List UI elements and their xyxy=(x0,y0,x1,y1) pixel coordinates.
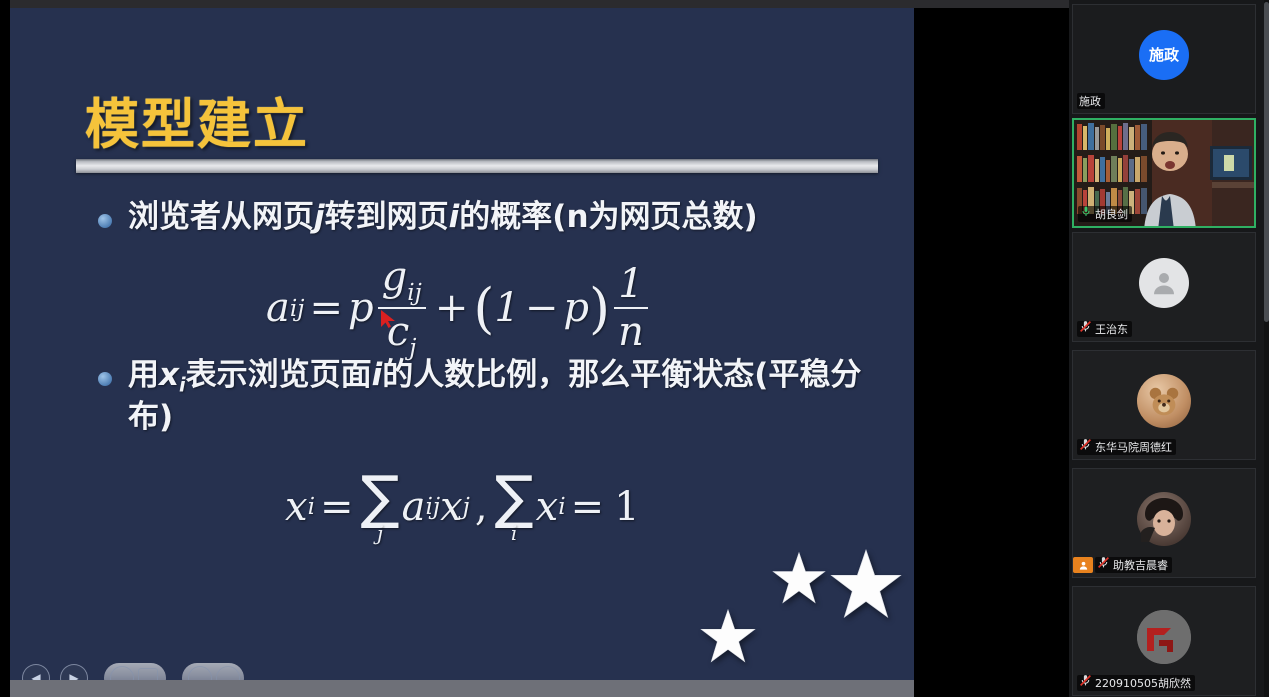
participant-name-bar: 220910505胡欣然 xyxy=(1077,675,1195,691)
participant-name: 东华马院周德红 xyxy=(1095,439,1172,455)
magnifier-icon xyxy=(188,666,212,680)
avatar-photo xyxy=(1137,374,1191,428)
bullet-dot-icon xyxy=(98,214,112,228)
bullet1-var-i: i xyxy=(449,199,460,235)
f2-xi-sub: i xyxy=(558,493,565,520)
f2-sigma2-limit: i xyxy=(511,523,517,543)
f2-one: 1 xyxy=(614,484,639,530)
slide-options-button[interactable] xyxy=(182,663,244,680)
bullet1-pre: 浏览者从网页 xyxy=(128,199,314,235)
filmstrip-scrollbar[interactable] xyxy=(1264,0,1269,697)
previous-slide-icon: ◀ xyxy=(31,672,40,680)
participant-name: 220910505胡欣然 xyxy=(1095,675,1191,691)
bullet1-var-j: j xyxy=(314,199,325,235)
meeting-screen-share-window: 模型建立 浏览者从网页j转到网页i的概率(n为网页总数) aij = p gij… xyxy=(0,0,1269,697)
mic-status-icon xyxy=(1080,205,1092,223)
f1-minus: − xyxy=(525,285,559,331)
participant-name: 王治东 xyxy=(1095,321,1128,337)
bullet-text-1: 浏览者从网页j转到网页i的概率(n为网页总数) xyxy=(128,198,758,238)
formula-transition-probability: aij = p gij cj + ( 1 − p ) 1 n xyxy=(266,256,652,360)
participant-filmstrip[interactable]: 施政施政胡良剑王治东东华马院周德红助教吉晨睿220910505胡欣然 xyxy=(1069,0,1269,697)
f1-a-sub: ij xyxy=(290,295,305,322)
mic-status-icon xyxy=(1079,438,1092,456)
star-small-icon xyxy=(700,608,756,669)
screen-share-top-bar xyxy=(0,0,1069,8)
f2-xj: x xyxy=(440,484,463,530)
mic-muted-icon xyxy=(1079,320,1092,333)
star-large-icon xyxy=(830,548,902,625)
mic-muted-icon xyxy=(1079,674,1092,687)
participant-name-bar: 胡良剑 xyxy=(1078,206,1132,222)
slide-title: 模型建立 xyxy=(85,80,309,159)
f2-sigma-j: ∑ j xyxy=(361,470,400,543)
participant-name-bar: 助教吉晨睿 xyxy=(1095,557,1172,573)
f2-equals: = xyxy=(320,484,354,530)
f2-a: a xyxy=(402,484,426,530)
mic-status-icon xyxy=(1079,320,1092,338)
bullet2-mid: 表示浏览页面 xyxy=(186,357,372,393)
participant-name-bar: 东华马院周德红 xyxy=(1077,439,1176,455)
bullet2-var-x-sub: i xyxy=(179,374,186,397)
f1-p2: p xyxy=(563,285,589,331)
bullet-item-1: 浏览者从网页j转到网页i的概率(n为网页总数) xyxy=(98,198,758,238)
avatar-default-person-icon xyxy=(1139,258,1189,308)
bullet-text-2: 用xi表示浏览页面i的人数比例，那么平衡状态(平稳分布) xyxy=(128,356,868,438)
f2-sigma1-limit: j xyxy=(377,523,383,543)
f2-x-sub: i xyxy=(308,493,315,520)
bullet2-var-x: x xyxy=(159,357,179,393)
formula-stationary-distribution: xi = ∑ j aij xj , ∑ i xi = 1 xyxy=(285,470,645,543)
mic-status-icon xyxy=(1097,556,1110,574)
host-badge xyxy=(1073,557,1093,573)
participant-name-bar: 施政 xyxy=(1077,93,1105,109)
f1-open-paren: ( xyxy=(473,277,494,340)
f1-close-paren: ) xyxy=(589,277,610,340)
f1-frac2-num: 1 xyxy=(614,263,647,305)
participant-tile[interactable]: 220910505胡欣然 xyxy=(1072,586,1256,696)
mic-muted-icon xyxy=(1097,556,1110,569)
title-divider-rule xyxy=(76,159,878,173)
bullet1-post: 的概率(n为网页总数) xyxy=(459,199,757,235)
f1-a: a xyxy=(266,285,290,331)
slide-bottom-bar xyxy=(10,680,914,697)
f2-comma: , xyxy=(475,484,488,530)
f2-sigma1-glyph: ∑ xyxy=(361,470,400,525)
f2-sigma-i: ∑ i xyxy=(495,470,534,543)
pen-tool-button[interactable] xyxy=(104,663,166,680)
participant-name: 施政 xyxy=(1079,93,1101,109)
participant-tile[interactable]: 施政施政 xyxy=(1072,4,1256,114)
f1-p: p xyxy=(348,285,374,331)
bullet-dot-icon xyxy=(98,372,112,386)
f2-xi: x xyxy=(536,484,559,530)
f2-equals-2: = xyxy=(571,484,605,530)
participant-tile[interactable]: 助教吉晨睿 xyxy=(1072,468,1256,578)
avatar-initials: 施政 xyxy=(1139,30,1189,80)
avatar-photo xyxy=(1137,610,1191,664)
participant-name: 助教吉晨睿 xyxy=(1113,557,1168,573)
f1-fraction-one-over-n: 1 n xyxy=(614,263,648,353)
more-options-icon xyxy=(216,666,240,680)
shared-screen-area: 模型建立 浏览者从网页j转到网页i的概率(n为网页总数) aij = p gij… xyxy=(0,0,1069,697)
mic-on-icon xyxy=(1080,205,1092,218)
next-slide-button[interactable]: ▶ xyxy=(60,664,88,680)
slide-thumbnail-icon xyxy=(138,668,158,680)
star-medium-icon xyxy=(772,551,826,610)
avatar-photo xyxy=(1137,492,1191,546)
f1-one: 1 xyxy=(494,285,519,331)
presentation-slide[interactable]: 模型建立 浏览者从网页j转到网页i的概率(n为网页总数) aij = p gij… xyxy=(10,8,914,680)
participant-tile[interactable]: 王治东 xyxy=(1072,232,1256,342)
previous-slide-button[interactable]: ◀ xyxy=(22,664,50,680)
f2-x: x xyxy=(285,484,308,530)
bullet2-var-i: i xyxy=(372,357,383,393)
f2-a-sub: ij xyxy=(425,493,440,520)
f1-frac2-den: n xyxy=(614,311,648,353)
bullet2-pre: 用 xyxy=(128,357,159,393)
letterbox-left-strip xyxy=(0,0,10,697)
f2-sigma2-glyph: ∑ xyxy=(495,470,534,525)
f1-plus: + xyxy=(435,285,469,331)
participant-name-bar: 王治东 xyxy=(1077,321,1132,337)
slideshow-control-bar[interactable]: ◀ ▶ xyxy=(22,663,244,680)
f1-fraction-g-over-c: gij cj xyxy=(378,256,426,360)
participant-tile[interactable]: 胡良剑 xyxy=(1072,118,1256,228)
participant-name: 胡良剑 xyxy=(1095,206,1128,222)
f1-g-sub: ij xyxy=(407,281,422,305)
mic-status-icon xyxy=(1079,674,1092,692)
f1-equals: = xyxy=(309,285,343,331)
laser-pointer-cursor xyxy=(380,310,396,328)
participant-tile[interactable]: 东华马院周德红 xyxy=(1072,350,1256,460)
bullet-item-2: 用xi表示浏览页面i的人数比例，那么平衡状态(平稳分布) xyxy=(98,356,868,438)
next-slide-icon: ▶ xyxy=(69,672,78,680)
f1-g: g xyxy=(382,254,408,300)
bullet1-mid: 转到网页 xyxy=(325,199,449,235)
filmstrip-scrollbar-thumb[interactable] xyxy=(1264,2,1269,322)
f1-frac-num: gij xyxy=(378,256,426,305)
mic-muted-icon xyxy=(1079,438,1092,451)
pen-icon xyxy=(110,666,134,680)
f2-xj-sub: j xyxy=(463,493,470,520)
